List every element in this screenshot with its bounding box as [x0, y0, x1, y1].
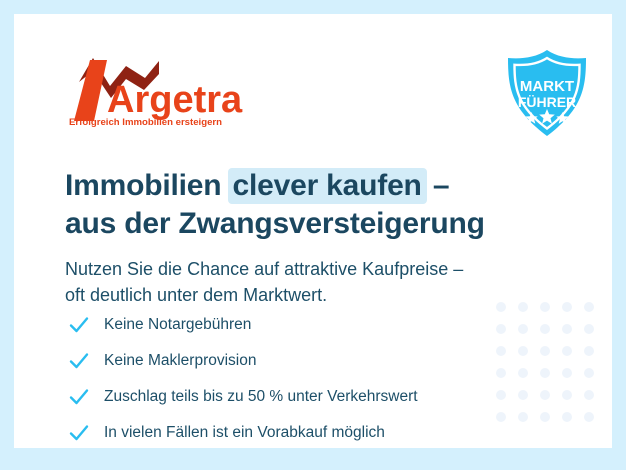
- markt-fuehrer-badge: MARKT FÜHRER: [501, 47, 593, 139]
- dot: [540, 324, 550, 334]
- dot: [562, 346, 572, 356]
- list-item-label: Keine Maklerprovision: [104, 352, 257, 370]
- list-item: In vielen Fällen ist ein Vorabkauf mögli…: [68, 418, 538, 448]
- headline-part1: Immobilien: [65, 169, 230, 202]
- dot: [584, 368, 594, 378]
- promo-banner: Argetra Erfolgreich Immobilien ersteiger…: [0, 0, 626, 470]
- dot: [562, 368, 572, 378]
- check-icon: [68, 350, 90, 372]
- check-icon: [68, 422, 90, 444]
- badge-line2: FÜHRER: [518, 94, 576, 110]
- dot: [584, 346, 594, 356]
- subheading: Nutzen Sie die Chance auf attraktive Kau…: [65, 256, 585, 308]
- list-item-label: Keine Notargebühren: [104, 316, 251, 334]
- argetra-logo[interactable]: Argetra Erfolgreich Immobilien ersteiger…: [66, 52, 276, 128]
- dot: [584, 390, 594, 400]
- headline-part2: –: [425, 169, 450, 202]
- dot: [540, 346, 550, 356]
- dot: [584, 302, 594, 312]
- list-item: Keine Maklerprovision: [68, 346, 538, 376]
- content-card: Argetra Erfolgreich Immobilien ersteiger…: [14, 14, 612, 448]
- badge-line1: MARKT: [520, 78, 574, 95]
- logo-tagline: Erfolgreich Immobilien ersteigern: [69, 117, 222, 128]
- dot: [562, 412, 572, 422]
- dot: [540, 412, 550, 422]
- check-icon: [68, 314, 90, 336]
- subheading-line2: oft deutlich unter dem Marktwert.: [65, 282, 585, 308]
- subheading-line1: Nutzen Sie die Chance auf attraktive Kau…: [65, 259, 463, 279]
- dot: [562, 324, 572, 334]
- dot: [562, 390, 572, 400]
- dot: [584, 412, 594, 422]
- check-icon: [68, 386, 90, 408]
- benefits-checklist: Keine Notargebühren Keine Maklerprovisio…: [68, 310, 538, 448]
- dot: [540, 368, 550, 378]
- headline-highlight: clever kaufen: [228, 168, 427, 204]
- list-item-label: In vielen Fällen ist ein Vorabkauf mögli…: [104, 424, 385, 442]
- list-item: Zuschlag teils bis zu 50 % unter Verkehr…: [68, 382, 538, 412]
- logo-wordmark: Argetra: [107, 79, 243, 121]
- dot: [540, 390, 550, 400]
- headline-line2: aus der Zwangsversteigerung: [65, 205, 565, 243]
- page-title: Immobilien clever kaufen –aus der Zwangs…: [65, 167, 565, 244]
- list-item-label: Zuschlag teils bis zu 50 % unter Verkehr…: [104, 388, 418, 406]
- list-item: Keine Notargebühren: [68, 310, 538, 340]
- dot: [584, 324, 594, 334]
